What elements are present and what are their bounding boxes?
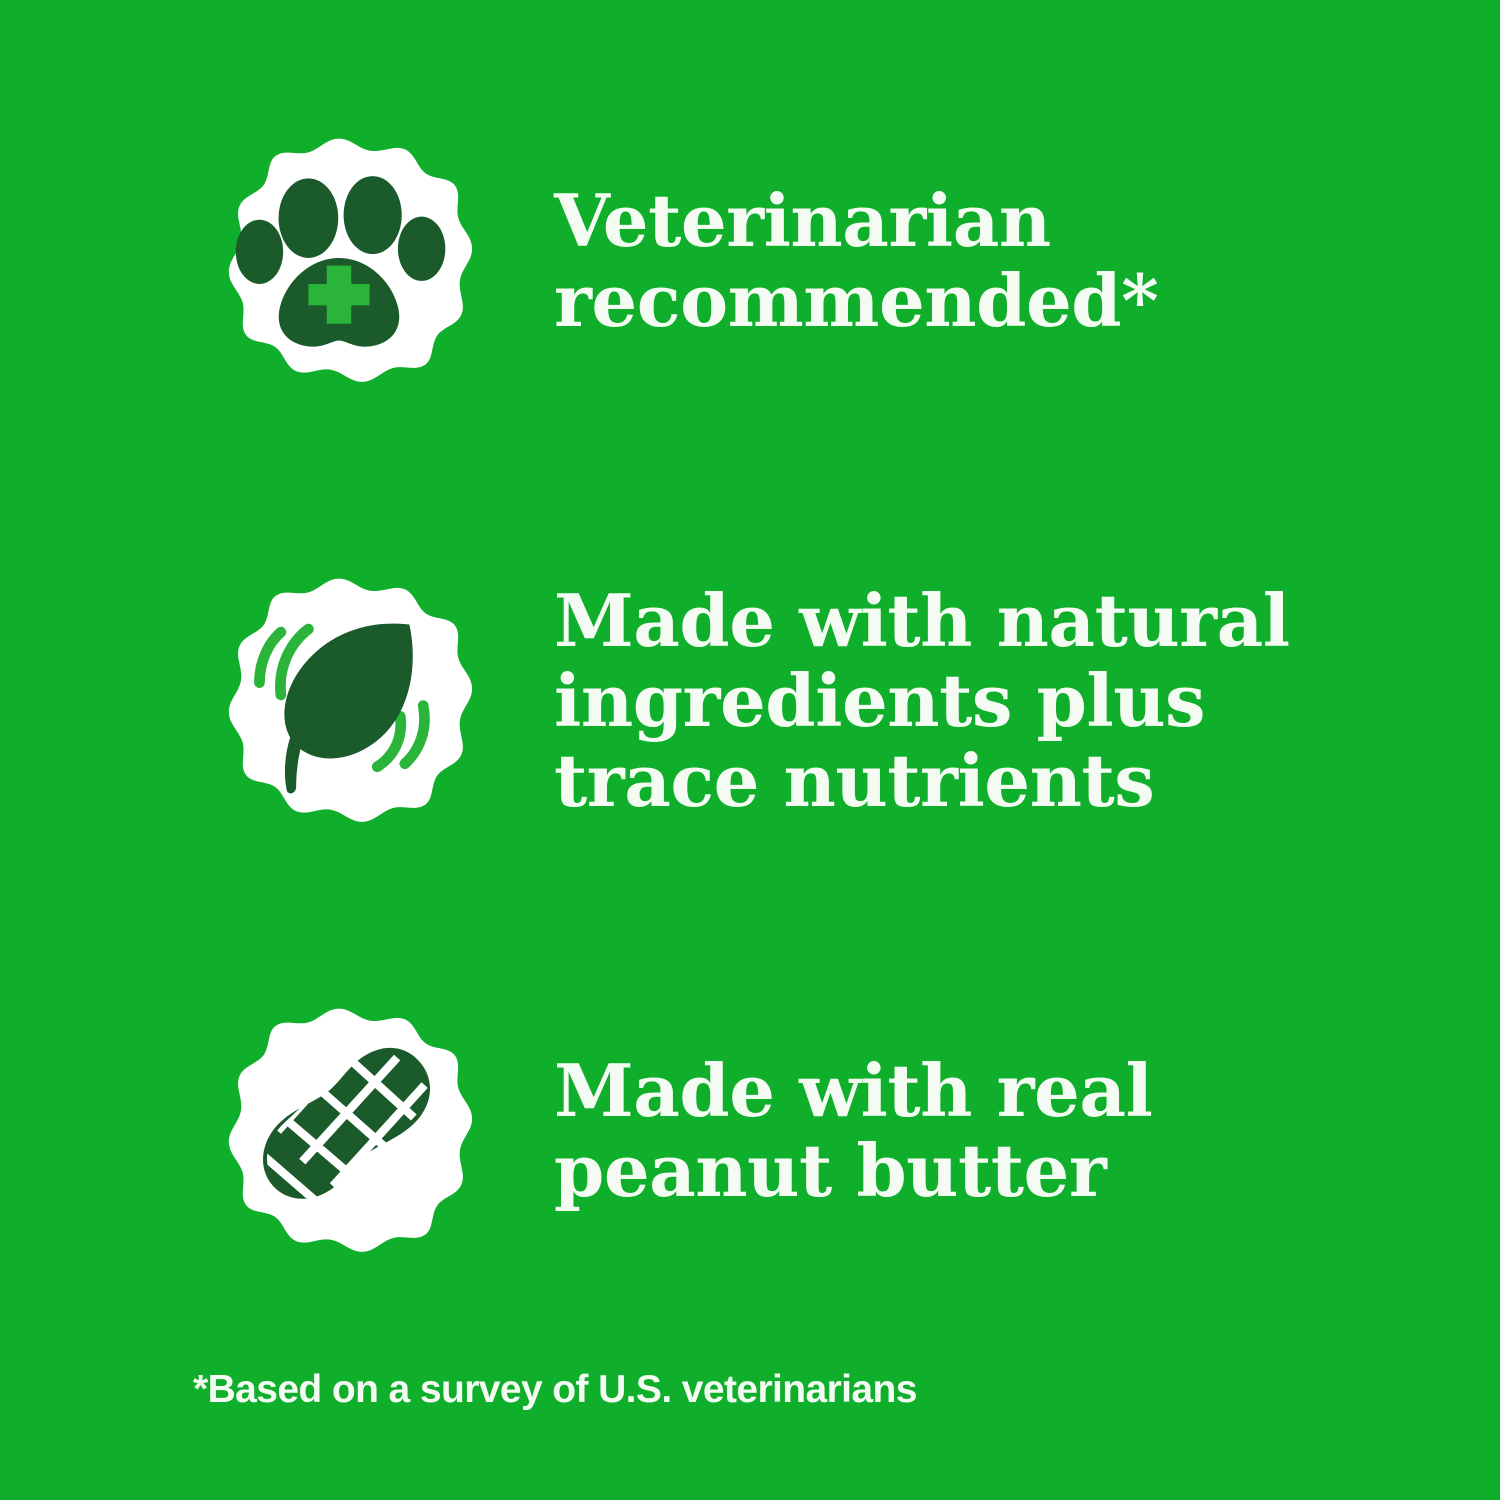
paw-with-medical-cross-icon: [186, 108, 492, 414]
feature-row: Veterinarian recommended*: [186, 108, 1158, 414]
footnote-disclaimer: *Based on a survey of U.S. veterinarians: [193, 1368, 917, 1412]
leaf-with-motion-lines-icon: [186, 548, 492, 854]
feature-label-real-peanut-butter: Made with real peanut butter: [554, 1051, 1152, 1211]
benefits-panel: Veterinarian recommended*: [0, 0, 1500, 1500]
badge-veterinarian-recommended: [186, 108, 492, 414]
peanut-shell-icon: [186, 978, 492, 1284]
feature-label-veterinarian-recommended: Veterinarian recommended*: [554, 181, 1158, 341]
feature-label-natural-ingredients: Made with natural ingredients plus trace…: [554, 581, 1290, 821]
feature-row: Made with natural ingredients plus trace…: [186, 548, 1290, 854]
badge-natural-ingredients: [186, 548, 492, 854]
badge-real-peanut-butter: [186, 978, 492, 1284]
feature-row: Made with real peanut butter: [186, 978, 1152, 1284]
